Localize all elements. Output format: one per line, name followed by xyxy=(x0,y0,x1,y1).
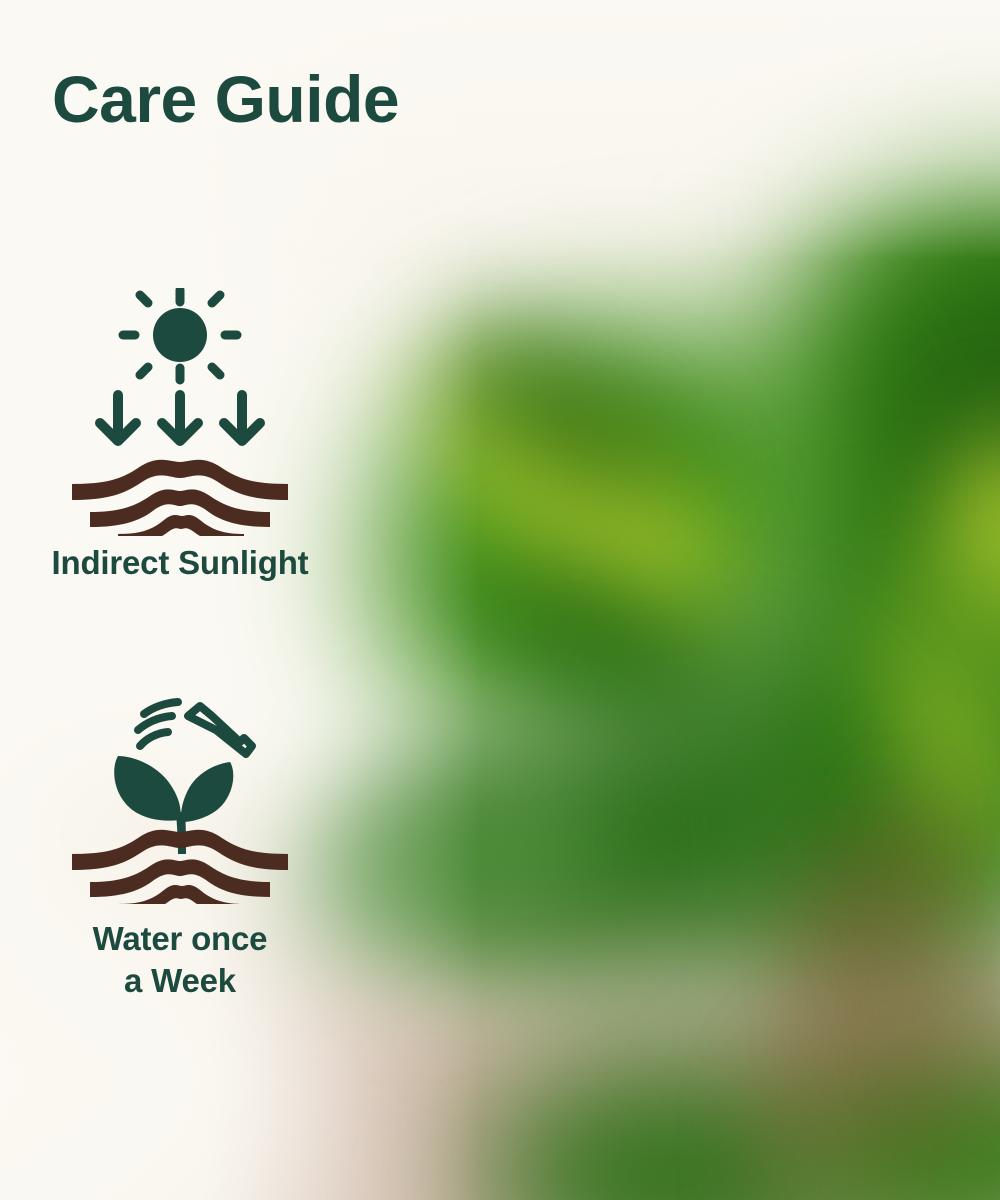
spray-line-2 xyxy=(138,716,172,730)
sun-ray-ne xyxy=(212,295,220,303)
down-arrow-icon xyxy=(224,395,260,441)
sun-ray-nw xyxy=(140,295,148,303)
care-guide-page: Care Guide xyxy=(0,0,1000,1200)
sun-core xyxy=(153,308,207,362)
sprout-leaf-left xyxy=(114,756,181,821)
care-item-indirect-sunlight: Indirect Sunlight xyxy=(20,288,340,584)
watering-sprout-svg xyxy=(60,694,300,904)
sun-ray-sw xyxy=(140,367,148,375)
watering-sprout-icon xyxy=(60,694,300,904)
sun-ray-se xyxy=(212,367,220,375)
watering-can-spout-icon xyxy=(188,706,252,754)
care-label-indirect-sunlight: Indirect Sunlight xyxy=(20,542,340,584)
soil-waves-icon xyxy=(72,830,288,904)
sun-icon xyxy=(123,290,237,380)
page-title: Care Guide xyxy=(52,66,399,132)
care-item-water-once-a-week: Water once a Week xyxy=(20,694,340,1002)
soil-waves-icon xyxy=(72,460,288,536)
down-arrow-icon xyxy=(100,395,136,441)
care-label-line-2: a Week xyxy=(20,960,340,1002)
sun-over-soil-svg xyxy=(60,288,300,536)
down-arrow-icon xyxy=(162,395,198,441)
care-label-line-1: Water once xyxy=(20,918,340,960)
water-spray-icon xyxy=(138,702,178,746)
care-label-water-once-a-week: Water once a Week xyxy=(20,918,340,1002)
sun-over-soil-icon xyxy=(60,288,300,536)
plant-photo-background xyxy=(0,0,1000,1200)
sprout-leaf-right xyxy=(181,762,233,822)
spray-line-3 xyxy=(140,732,168,746)
